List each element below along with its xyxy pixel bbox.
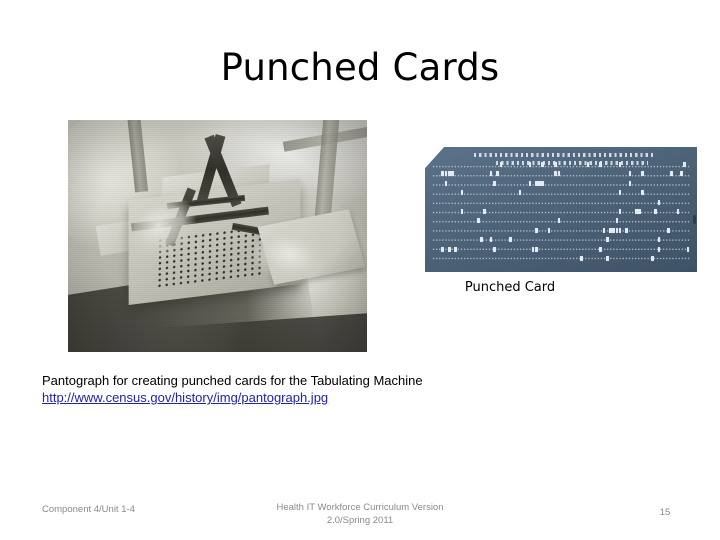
punched-card-photo bbox=[425, 147, 697, 272]
punch-hole bbox=[609, 228, 612, 233]
punch-card-body bbox=[425, 147, 697, 272]
footer-curriculum-line2: 2.0/Spring 2011 bbox=[230, 514, 490, 527]
punch-hole bbox=[454, 247, 457, 252]
punch-hole bbox=[616, 228, 619, 233]
punch-hole bbox=[535, 228, 538, 233]
punch-hole bbox=[490, 237, 493, 242]
punch-hole bbox=[441, 247, 444, 252]
punch-hole bbox=[629, 171, 632, 176]
caption-block: Pantograph for creating punched cards fo… bbox=[42, 373, 562, 407]
punch-hole bbox=[599, 247, 602, 252]
punch-hole bbox=[629, 181, 632, 186]
punch-hole bbox=[496, 171, 499, 176]
punch-hole bbox=[480, 237, 483, 242]
punch-hole bbox=[445, 171, 448, 176]
punch-hole bbox=[535, 247, 538, 252]
punch-hole bbox=[603, 228, 606, 233]
punch-hole bbox=[654, 209, 657, 214]
punch-hole bbox=[483, 209, 486, 214]
punch-hole bbox=[493, 181, 496, 186]
punch-hole bbox=[532, 247, 535, 252]
punch-hole bbox=[500, 162, 503, 167]
punch-card-notch bbox=[693, 215, 696, 224]
punch-hole bbox=[683, 162, 686, 167]
photo-grain-vignette bbox=[68, 120, 367, 352]
punch-hole bbox=[619, 162, 622, 167]
punch-hole bbox=[461, 209, 464, 214]
punch-hole bbox=[641, 190, 644, 195]
punch-hole bbox=[638, 209, 641, 214]
punch-hole bbox=[606, 256, 609, 261]
punch-hole bbox=[509, 237, 512, 242]
punch-hole bbox=[441, 171, 444, 176]
punched-card-label: Punched Card bbox=[380, 279, 640, 296]
punch-hole bbox=[587, 162, 590, 167]
punch-hole bbox=[612, 228, 615, 233]
punch-hole bbox=[554, 162, 557, 167]
punch-hole bbox=[529, 181, 532, 186]
punch-hole bbox=[448, 171, 451, 176]
punch-hole bbox=[619, 209, 622, 214]
footer-page-number: 15 bbox=[640, 506, 690, 519]
punch-hole bbox=[658, 237, 661, 242]
footer-curriculum: Health IT Workforce Curriculum Version 2… bbox=[230, 501, 490, 527]
punch-hole bbox=[548, 228, 551, 233]
punch-hole bbox=[558, 218, 561, 223]
punch-hole bbox=[541, 181, 544, 186]
punch-hole bbox=[619, 190, 622, 195]
punch-hole bbox=[451, 171, 454, 176]
punch-hole bbox=[493, 247, 496, 252]
caption-text: Pantograph for creating punched cards fo… bbox=[42, 373, 562, 389]
punch-hole bbox=[651, 256, 654, 261]
punch-hole bbox=[538, 181, 541, 186]
punch-hole bbox=[580, 256, 583, 261]
punch-hole bbox=[670, 171, 673, 176]
punch-hole bbox=[490, 171, 493, 176]
punch-hole bbox=[599, 162, 602, 167]
punch-hole bbox=[529, 162, 532, 167]
punch-hole bbox=[677, 209, 680, 214]
punch-hole bbox=[519, 190, 522, 195]
punch-hole bbox=[445, 181, 448, 186]
punch-hole bbox=[535, 181, 538, 186]
page-title: Punched Cards bbox=[0, 46, 720, 90]
punch-hole bbox=[658, 247, 661, 252]
punch-card-holes bbox=[432, 161, 690, 266]
punch-hole bbox=[641, 171, 644, 176]
punch-hole bbox=[541, 162, 544, 167]
punch-hole bbox=[558, 171, 561, 176]
punch-hole bbox=[606, 237, 609, 242]
pantograph-photo bbox=[68, 120, 367, 352]
punch-hole bbox=[477, 218, 480, 223]
punch-hole bbox=[616, 218, 619, 223]
punch-hole bbox=[554, 171, 557, 176]
punch-hole bbox=[687, 247, 690, 252]
punch-card-print-row-1 bbox=[474, 153, 654, 157]
punch-hole bbox=[680, 171, 683, 176]
punch-hole bbox=[448, 247, 451, 252]
footer-component-unit: Component 4/Unit 1-4 bbox=[42, 503, 135, 516]
slide-canvas: Punched Cards bbox=[0, 0, 720, 540]
punch-hole bbox=[658, 200, 661, 205]
punch-hole bbox=[667, 228, 670, 233]
punch-hole bbox=[625, 228, 628, 233]
punch-hole bbox=[461, 190, 464, 195]
punch-hole bbox=[619, 228, 622, 233]
source-url-link[interactable]: http://www.census.gov/history/img/pantog… bbox=[42, 390, 328, 406]
footer-curriculum-line1: Health IT Workforce Curriculum Version bbox=[230, 501, 490, 514]
punch-hole bbox=[635, 209, 638, 214]
